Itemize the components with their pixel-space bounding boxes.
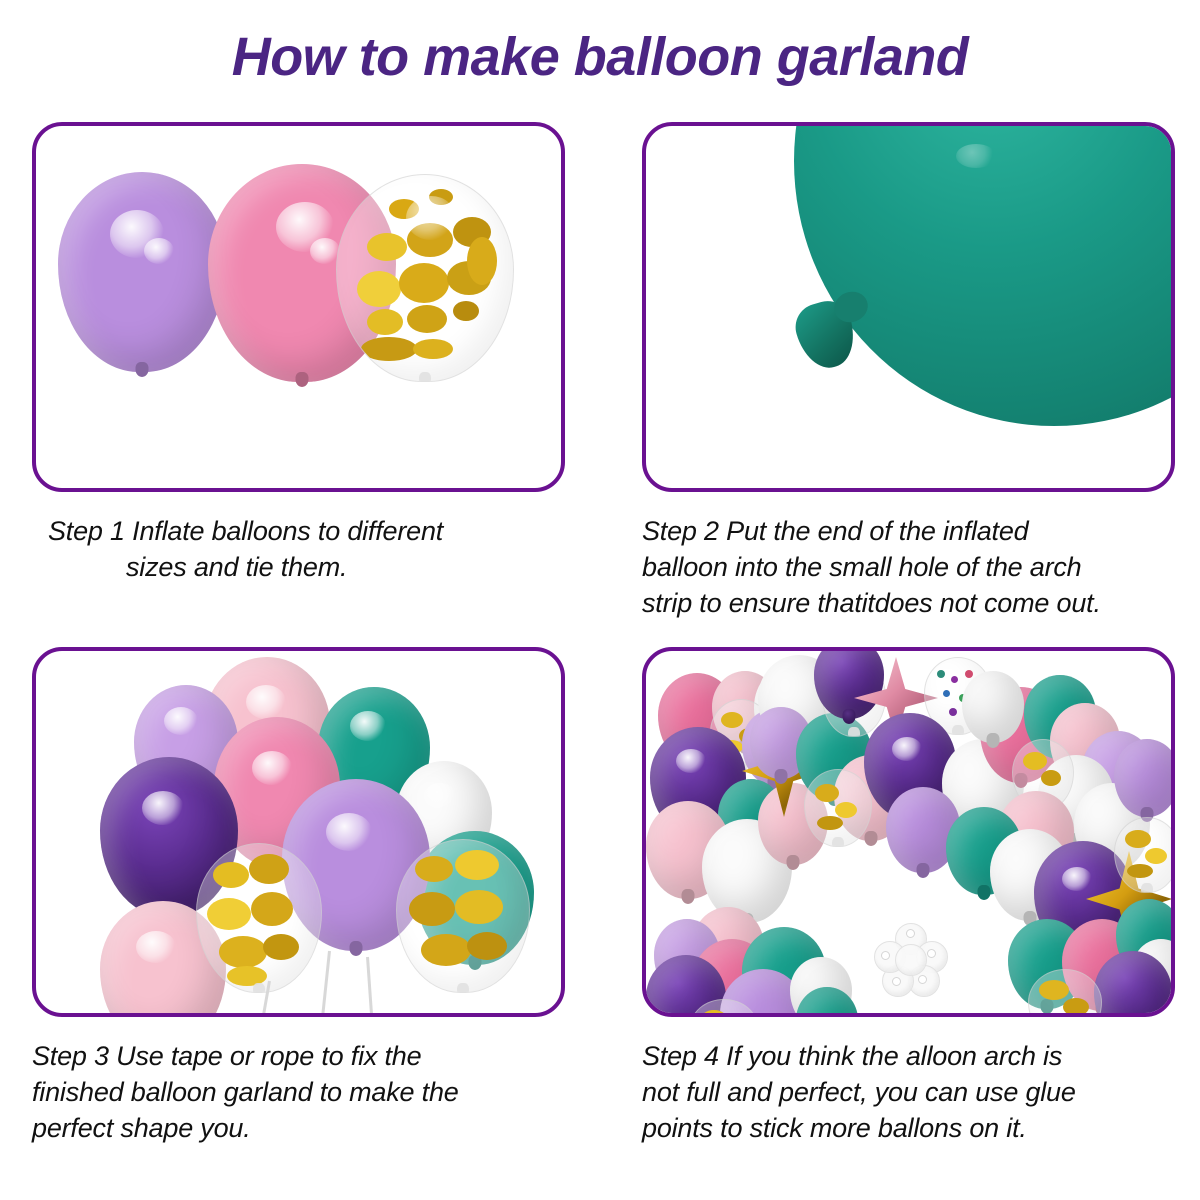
balloon-gold-confetti xyxy=(336,174,514,382)
holder-hole xyxy=(927,949,936,958)
confetti-fleck xyxy=(249,854,289,884)
confetti-fleck xyxy=(1063,998,1089,1016)
step-cell-3: Step 3 Use tape or rope to fix the finis… xyxy=(32,647,565,1147)
confetti-fleck xyxy=(421,934,471,966)
confetti-fleck xyxy=(407,223,453,257)
step-3-photo-frame xyxy=(32,647,565,1017)
balloon-lavender xyxy=(58,172,226,372)
confetti-fleck xyxy=(1125,830,1151,848)
step-2-scene xyxy=(646,126,1171,488)
confetti-fleck xyxy=(213,862,249,888)
confetti-fleck xyxy=(817,816,843,830)
balloon-white xyxy=(962,671,1024,743)
confetti-fleck xyxy=(467,932,507,960)
confetti-fleck xyxy=(207,898,251,930)
confetti-fleck xyxy=(455,890,503,924)
confetti-fleck xyxy=(835,802,857,818)
page-title: How to make balloon garland xyxy=(0,26,1200,88)
steps-grid: Step 1 Inflate balloons to different siz… xyxy=(0,122,1200,1192)
confetti-fleck xyxy=(227,966,267,986)
step-1-caption-line-2: sizes and tie them. xyxy=(58,550,565,586)
step-3-caption-line-1: Step 3 Use tape or rope to fix the xyxy=(32,1041,421,1071)
balloon-lavender xyxy=(1114,739,1175,817)
step-3-scene xyxy=(36,651,561,1013)
holder-center xyxy=(895,944,927,976)
confetti-fleck xyxy=(219,936,267,968)
holder-hole xyxy=(918,975,927,984)
confetti-fleck xyxy=(367,233,407,261)
confetti-fleck xyxy=(357,271,401,307)
balloon-gold-confetti-right xyxy=(396,839,530,993)
confetti-fleck xyxy=(453,301,479,321)
confetti-fleck xyxy=(415,856,453,882)
step-cell-4: Step 4 If you think the alloon arch is n… xyxy=(642,647,1175,1147)
step-3-caption: Step 3 Use tape or rope to fix the finis… xyxy=(32,1039,565,1147)
step-2-caption-line-3: strip to ensure thatitdoes not come out. xyxy=(642,588,1101,618)
confetti-fleck xyxy=(409,892,455,926)
confetti-fleck xyxy=(1145,848,1167,864)
step-2-caption: Step 2 Put the end of the inflated ballo… xyxy=(642,514,1175,622)
step-2-caption-line-1: Step 2 Put the end of the inflated xyxy=(642,516,1029,546)
confetti-fleck xyxy=(429,189,453,205)
holder-hole xyxy=(881,951,890,960)
step-1-caption-line-1: Step 1 Inflate balloons to different xyxy=(48,516,443,546)
step-4-caption-line-3: points to stick more ballons on it. xyxy=(642,1113,1027,1143)
confetti-fleck xyxy=(413,339,453,359)
balloon-string xyxy=(366,957,374,1017)
confetti-fleck xyxy=(1127,864,1153,878)
confetti-fleck xyxy=(949,708,957,716)
holder-hole xyxy=(906,929,915,938)
confetti-fleck xyxy=(361,337,417,361)
confetti-fleck xyxy=(407,305,447,333)
confetti-fleck xyxy=(263,934,299,960)
confetti-fleck xyxy=(399,263,449,303)
confetti-fleck xyxy=(1041,770,1061,786)
step-1-scene xyxy=(36,126,561,488)
confetti-fleck xyxy=(367,309,403,335)
step-4-caption-line-2: not full and perfect, you can use glue xyxy=(642,1077,1076,1107)
confetti-fleck xyxy=(965,670,973,678)
step-4-photo-frame xyxy=(642,647,1175,1017)
confetti-fleck xyxy=(815,784,839,802)
confetti-fleck xyxy=(467,237,497,285)
confetti-fleck xyxy=(721,712,743,728)
confetti-fleck xyxy=(951,676,958,683)
confetti-fleck xyxy=(455,850,499,880)
step-3-caption-line-3: perfect shape you. xyxy=(32,1113,251,1143)
step-2-caption-line-2: balloon into the small hole of the arch xyxy=(642,552,1081,582)
confetti-fleck xyxy=(701,1010,727,1017)
balloon-gold-confetti xyxy=(804,769,872,847)
glue-dot-holder xyxy=(874,923,946,995)
confetti-fleck xyxy=(251,892,293,926)
holder-hole xyxy=(892,977,901,986)
confetti-fleck xyxy=(389,199,419,219)
step-4-scene xyxy=(646,651,1171,1013)
confetti-fleck xyxy=(1039,980,1069,1000)
step-4-caption-line-1: Step 4 If you think the alloon arch is xyxy=(642,1041,1062,1071)
confetti-fleck xyxy=(1023,752,1047,770)
step-cell-1: Step 1 Inflate balloons to different siz… xyxy=(32,122,565,586)
balloon-string xyxy=(320,951,331,1017)
balloon-gold-confetti-left xyxy=(196,843,322,993)
confetti-fleck xyxy=(937,670,945,678)
balloon-gold-confetti xyxy=(1114,817,1175,893)
step-1-caption: Step 1 Inflate balloons to different siz… xyxy=(32,514,565,586)
step-3-caption-line-2: finished balloon garland to make the xyxy=(32,1077,459,1107)
step-1-photo-frame xyxy=(32,122,565,492)
confetti-fleck xyxy=(943,690,950,697)
balloon-teal-large xyxy=(794,122,1175,426)
step-2-photo-frame xyxy=(642,122,1175,492)
step-cell-2: Step 2 Put the end of the inflated ballo… xyxy=(642,122,1175,622)
step-4-caption: Step 4 If you think the alloon arch is n… xyxy=(642,1039,1175,1147)
